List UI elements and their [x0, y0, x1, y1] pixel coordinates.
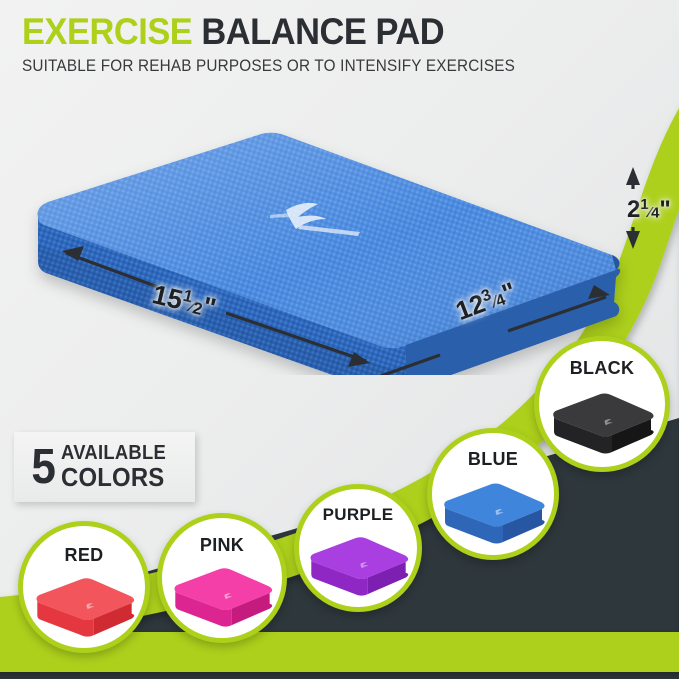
- color-swatch-pink[interactable]: PINK: [157, 513, 287, 643]
- color-label-red: RED: [23, 545, 145, 566]
- available-colors-badge: 5 AVAILABLE COLORS: [14, 432, 195, 502]
- color-swatch-black[interactable]: BLACK: [534, 336, 670, 472]
- color-swatch-blue[interactable]: BLUE: [427, 428, 559, 560]
- page-subtitle: SUITABLE FOR REHAB PURPOSES OR TO INTENS…: [22, 56, 515, 76]
- color-label-purple: PURPLE: [299, 505, 417, 525]
- colors-count: 5: [31, 445, 56, 489]
- header-block: EXERCISE BALANCE PAD SUITABLE FOR REHAB …: [22, 12, 570, 76]
- pad-thumbnail-blue: [432, 473, 554, 547]
- infographic-canvas: EXERCISE BALANCE PAD SUITABLE FOR REHAB …: [0, 0, 679, 679]
- color-label-blue: BLUE: [432, 449, 554, 470]
- pad-thumbnail-purple: [299, 527, 417, 599]
- color-label-pink: PINK: [162, 535, 282, 556]
- title-accent: EXERCISE: [22, 11, 192, 52]
- hero-product-illustration: [8, 105, 648, 375]
- colors-word-label: COLORS: [61, 464, 166, 490]
- pad-thumbnail-pink: [162, 558, 282, 630]
- blue-balance-pad: [37, 133, 620, 375]
- title-rest: BALANCE PAD: [201, 11, 444, 52]
- color-swatch-red[interactable]: RED: [18, 521, 150, 653]
- pad-thumbnail-black: [539, 383, 665, 457]
- color-label-black: BLACK: [539, 358, 665, 379]
- page-title: EXERCISE BALANCE PAD: [22, 12, 531, 52]
- color-swatch-purple[interactable]: PURPLE: [294, 484, 422, 612]
- pad-thumbnail-red: [23, 568, 145, 640]
- colors-available-label: AVAILABLE: [61, 443, 166, 463]
- dimension-label-height: 21⁄4": [627, 196, 671, 224]
